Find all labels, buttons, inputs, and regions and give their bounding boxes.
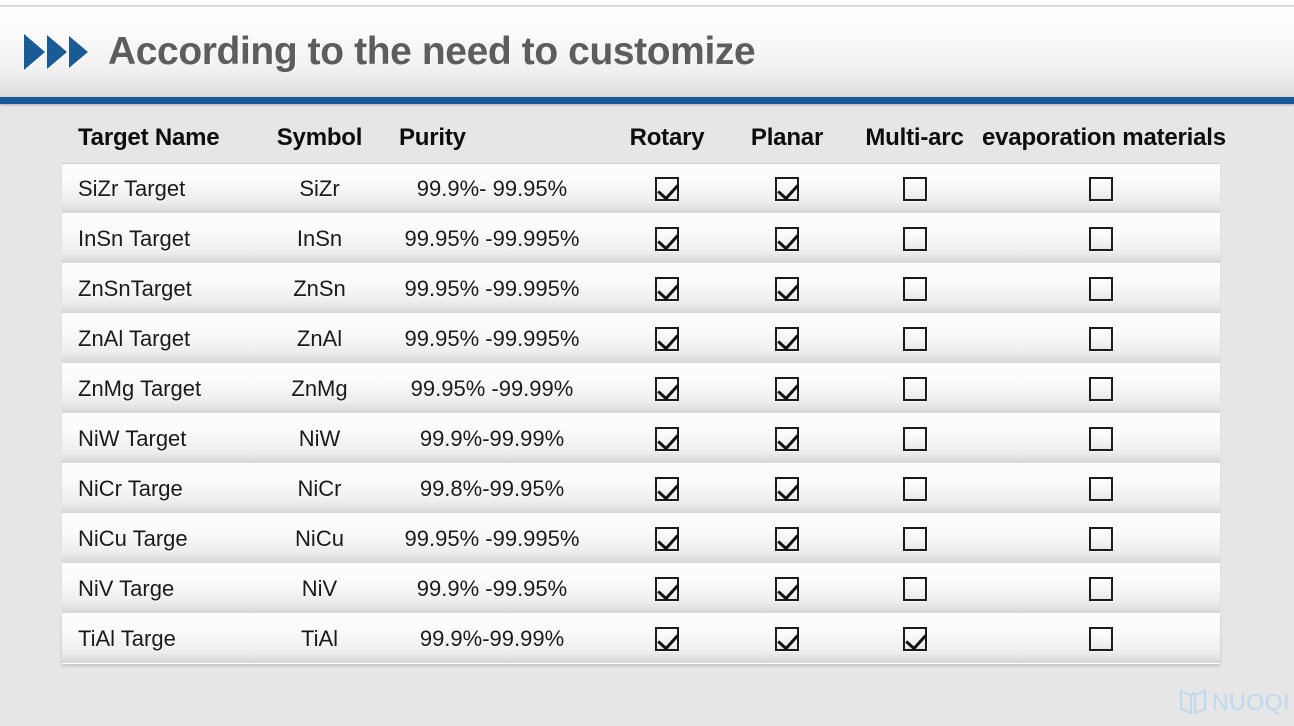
cell-purity: 99.9%- 99.95% bbox=[377, 164, 607, 213]
checkbox-evaporation-materials-cell bbox=[982, 314, 1220, 363]
checkbox-multi-arc-cell bbox=[847, 614, 982, 663]
checkbox-rotary-cell bbox=[607, 414, 727, 463]
checkbox-multi-arc-cell bbox=[847, 464, 982, 513]
checkbox-multi-arc[interactable] bbox=[903, 277, 927, 301]
cell-purity: 99.9% -99.95% bbox=[377, 564, 607, 613]
table-row[interactable]: ZnSnTargetZnSn99.95% -99.995% bbox=[62, 264, 1220, 314]
cell-purity-text: 99.95% -99.995% bbox=[405, 526, 580, 552]
cell-purity: 99.95% -99.995% bbox=[377, 514, 607, 563]
checkbox-planar[interactable] bbox=[775, 227, 799, 251]
checkbox-rotary-cell bbox=[607, 314, 727, 363]
cell-symbol: NiCu bbox=[262, 514, 377, 563]
table-row[interactable]: InSn TargetInSn99.95% -99.995% bbox=[62, 214, 1220, 264]
checkbox-multi-arc-cell bbox=[847, 164, 982, 213]
checkbox-evaporation-materials-cell bbox=[982, 564, 1220, 613]
checkbox-planar[interactable] bbox=[775, 577, 799, 601]
cell-purity: 99.9%-99.99% bbox=[377, 614, 607, 663]
checkbox-multi-arc[interactable] bbox=[903, 227, 927, 251]
cell-target-name: NiV Targe bbox=[62, 564, 262, 613]
cell-purity-text: 99.9%-99.99% bbox=[420, 626, 564, 652]
cell-symbol-text: TiAl bbox=[301, 626, 338, 652]
cell-purity-text: 99.8%-99.95% bbox=[420, 476, 564, 502]
cell-symbol-text: ZnAl bbox=[297, 326, 342, 352]
cell-purity-text: 99.95% -99.99% bbox=[411, 376, 574, 402]
checkbox-multi-arc[interactable] bbox=[903, 377, 927, 401]
checkbox-evaporation-materials-cell bbox=[982, 414, 1220, 463]
checkbox-rotary-cell bbox=[607, 364, 727, 413]
slide-canvas: According to the need to customize Targe… bbox=[0, 0, 1294, 726]
checkbox-rotary[interactable] bbox=[655, 327, 679, 351]
checkbox-evaporation-materials-cell bbox=[982, 164, 1220, 213]
chevron-right-icon bbox=[69, 36, 88, 68]
checkbox-evaporation-materials-cell bbox=[982, 464, 1220, 513]
cell-target-name-text: InSn Target bbox=[78, 226, 190, 252]
checkbox-planar[interactable] bbox=[775, 327, 799, 351]
checkbox-planar-cell bbox=[727, 164, 847, 213]
cell-symbol: TiAl bbox=[262, 614, 377, 663]
cell-purity: 99.9%-99.99% bbox=[377, 414, 607, 463]
cell-target-name-text: ZnAl Target bbox=[78, 326, 190, 352]
checkbox-multi-arc-cell bbox=[847, 264, 982, 313]
checkbox-planar-cell bbox=[727, 464, 847, 513]
cell-target-name: ZnMg Target bbox=[62, 364, 262, 413]
checkbox-evaporation-materials[interactable] bbox=[1089, 527, 1113, 551]
checkbox-planar[interactable] bbox=[775, 277, 799, 301]
cell-symbol: NiV bbox=[262, 564, 377, 613]
slide-top-edge bbox=[0, 0, 1294, 6]
table-row[interactable]: ZnAl TargetZnAl99.95% -99.995% bbox=[62, 314, 1220, 364]
checkbox-rotary[interactable] bbox=[655, 277, 679, 301]
cell-purity: 99.95% -99.99% bbox=[377, 364, 607, 413]
column-header-evaporation-materials: evaporation materials bbox=[982, 117, 1220, 159]
checkbox-evaporation-materials-cell bbox=[982, 614, 1220, 663]
chevron-right-icon bbox=[47, 35, 67, 69]
checkbox-planar[interactable] bbox=[775, 477, 799, 501]
checkbox-multi-arc[interactable] bbox=[903, 327, 927, 351]
cell-target-name: SiZr Target bbox=[62, 164, 262, 213]
cell-symbol: ZnSn bbox=[262, 264, 377, 313]
checkbox-planar-cell bbox=[727, 264, 847, 313]
checkbox-rotary-cell bbox=[607, 614, 727, 663]
cell-target-name-text: TiAl Targe bbox=[78, 626, 176, 652]
slide-header: According to the need to customize bbox=[0, 7, 1294, 97]
cell-symbol-text: ZnSn bbox=[293, 276, 346, 302]
chevron-right-icon bbox=[24, 34, 45, 70]
cell-target-name: TiAl Targe bbox=[62, 614, 262, 663]
brand-logo: NUOQI bbox=[1178, 688, 1290, 716]
checkbox-rotary[interactable] bbox=[655, 177, 679, 201]
cell-purity-text: 99.95% -99.995% bbox=[405, 226, 580, 252]
cell-purity: 99.8%-99.95% bbox=[377, 464, 607, 513]
checkbox-rotary-cell bbox=[607, 264, 727, 313]
checkbox-multi-arc-cell bbox=[847, 564, 982, 613]
cell-target-name-text: NiV Targe bbox=[78, 576, 174, 602]
cell-target-name-text: NiCu Targe bbox=[78, 526, 188, 552]
checkbox-evaporation-materials-cell bbox=[982, 364, 1220, 413]
checkbox-multi-arc-cell bbox=[847, 364, 982, 413]
checkbox-evaporation-materials[interactable] bbox=[1089, 327, 1113, 351]
checkbox-planar-cell bbox=[727, 414, 847, 463]
checkbox-multi-arc[interactable] bbox=[903, 177, 927, 201]
targets-table: Target Name Symbol Purity Rotary Planar … bbox=[62, 117, 1220, 664]
checkbox-evaporation-materials-cell bbox=[982, 214, 1220, 263]
checkbox-evaporation-materials[interactable] bbox=[1089, 177, 1113, 201]
checkbox-rotary[interactable] bbox=[655, 477, 679, 501]
checkbox-rotary-cell bbox=[607, 514, 727, 563]
checkbox-multi-arc-cell bbox=[847, 214, 982, 263]
column-header-purity: Purity bbox=[377, 117, 607, 159]
checkbox-planar[interactable] bbox=[775, 427, 799, 451]
checkbox-evaporation-materials[interactable] bbox=[1089, 477, 1113, 501]
checkbox-planar[interactable] bbox=[775, 527, 799, 551]
header-divider bbox=[0, 97, 1294, 104]
cell-symbol: SiZr bbox=[262, 164, 377, 213]
cell-symbol-text: NiCr bbox=[298, 476, 342, 502]
cell-purity: 99.95% -99.995% bbox=[377, 214, 607, 263]
table-row[interactable]: TiAl TargeTiAl99.9%-99.99% bbox=[62, 614, 1220, 664]
brand-name: NUOQI bbox=[1212, 689, 1290, 716]
cell-target-name-text: NiW Target bbox=[78, 426, 186, 452]
cell-symbol: InSn bbox=[262, 214, 377, 263]
checkbox-planar[interactable] bbox=[775, 377, 799, 401]
checkbox-rotary-cell bbox=[607, 214, 727, 263]
checkbox-planar-cell bbox=[727, 514, 847, 563]
checkbox-planar[interactable] bbox=[775, 177, 799, 201]
checkbox-evaporation-materials[interactable] bbox=[1089, 577, 1113, 601]
checkbox-rotary[interactable] bbox=[655, 427, 679, 451]
cell-target-name: ZnSnTarget bbox=[62, 264, 262, 313]
cell-target-name-text: NiCr Targe bbox=[78, 476, 183, 502]
checkbox-rotary-cell bbox=[607, 464, 727, 513]
checkbox-planar-cell bbox=[727, 314, 847, 363]
cell-target-name: NiW Target bbox=[62, 414, 262, 463]
cell-purity: 99.95% -99.995% bbox=[377, 314, 607, 363]
checkbox-evaporation-materials[interactable] bbox=[1089, 377, 1113, 401]
cell-symbol: NiW bbox=[262, 414, 377, 463]
cell-symbol-text: NiW bbox=[299, 426, 341, 452]
chevron-group-icon bbox=[24, 29, 90, 75]
cell-target-name-text: SiZr Target bbox=[78, 176, 185, 202]
table-row[interactable]: SiZr TargetSiZr99.9%- 99.95% bbox=[62, 164, 1220, 214]
cell-purity-text: 99.9%-99.99% bbox=[420, 426, 564, 452]
checkbox-evaporation-materials-cell bbox=[982, 514, 1220, 563]
cell-target-name-text: ZnSnTarget bbox=[78, 276, 192, 302]
checkbox-evaporation-materials[interactable] bbox=[1089, 227, 1113, 251]
cell-purity: 99.95% -99.995% bbox=[377, 264, 607, 313]
checkbox-evaporation-materials[interactable] bbox=[1089, 427, 1113, 451]
checkbox-rotary[interactable] bbox=[655, 377, 679, 401]
checkbox-planar[interactable] bbox=[775, 627, 799, 651]
cell-symbol-text: InSn bbox=[297, 226, 342, 252]
cell-symbol-text: NiCu bbox=[295, 526, 344, 552]
cell-symbol: ZnAl bbox=[262, 314, 377, 363]
checkbox-rotary[interactable] bbox=[655, 627, 679, 651]
checkbox-multi-arc[interactable] bbox=[903, 577, 927, 601]
checkbox-rotary[interactable] bbox=[655, 577, 679, 601]
cell-symbol-text: NiV bbox=[302, 576, 337, 602]
column-header-symbol: Symbol bbox=[262, 117, 377, 159]
checkbox-multi-arc-cell bbox=[847, 514, 982, 563]
cell-purity-text: 99.95% -99.995% bbox=[405, 276, 580, 302]
checkbox-planar-cell bbox=[727, 214, 847, 263]
table-row[interactable]: NiCu TargeNiCu99.95% -99.995% bbox=[62, 514, 1220, 564]
table-header-row: Target Name Symbol Purity Rotary Planar … bbox=[62, 117, 1220, 163]
checkbox-rotary-cell bbox=[607, 564, 727, 613]
table-body: SiZr TargetSiZr99.9%- 99.95%InSn TargetI… bbox=[62, 163, 1220, 664]
column-header-target-name: Target Name bbox=[62, 117, 262, 159]
cell-symbol-text: ZnMg bbox=[291, 376, 347, 402]
checkbox-multi-arc[interactable] bbox=[903, 627, 927, 651]
checkbox-rotary[interactable] bbox=[655, 227, 679, 251]
checkbox-evaporation-materials[interactable] bbox=[1089, 277, 1113, 301]
table-row[interactable]: NiCr TargeNiCr99.8%-99.95% bbox=[62, 464, 1220, 514]
cell-symbol-text: SiZr bbox=[299, 176, 339, 202]
checkbox-multi-arc[interactable] bbox=[903, 427, 927, 451]
checkbox-multi-arc-cell bbox=[847, 314, 982, 363]
column-header-planar: Planar bbox=[727, 117, 847, 159]
table-row[interactable]: ZnMg TargetZnMg99.95% -99.99% bbox=[62, 364, 1220, 414]
cell-target-name: NiCr Targe bbox=[62, 464, 262, 513]
checkbox-multi-arc-cell bbox=[847, 414, 982, 463]
open-book-icon bbox=[1178, 688, 1208, 716]
cell-purity-text: 99.95% -99.995% bbox=[405, 326, 580, 352]
cell-target-name: ZnAl Target bbox=[62, 314, 262, 363]
checkbox-multi-arc[interactable] bbox=[903, 527, 927, 551]
cell-target-name: InSn Target bbox=[62, 214, 262, 263]
checkbox-planar-cell bbox=[727, 614, 847, 663]
page-title: According to the need to customize bbox=[108, 30, 755, 74]
cell-symbol: ZnMg bbox=[262, 364, 377, 413]
cell-purity-text: 99.9% -99.95% bbox=[417, 576, 567, 602]
cell-target-name-text: ZnMg Target bbox=[78, 376, 201, 402]
checkbox-evaporation-materials[interactable] bbox=[1089, 627, 1113, 651]
checkbox-rotary[interactable] bbox=[655, 527, 679, 551]
column-header-multi-arc: Multi-arc bbox=[847, 117, 982, 159]
checkbox-evaporation-materials-cell bbox=[982, 264, 1220, 313]
cell-target-name: NiCu Targe bbox=[62, 514, 262, 563]
cell-purity-text: 99.9%- 99.95% bbox=[417, 176, 567, 202]
checkbox-planar-cell bbox=[727, 564, 847, 613]
checkbox-multi-arc[interactable] bbox=[903, 477, 927, 501]
checkbox-rotary-cell bbox=[607, 164, 727, 213]
table-row[interactable]: NiW TargetNiW99.9%-99.99% bbox=[62, 414, 1220, 464]
cell-symbol: NiCr bbox=[262, 464, 377, 513]
column-header-rotary: Rotary bbox=[607, 117, 727, 159]
checkbox-planar-cell bbox=[727, 364, 847, 413]
table-row[interactable]: NiV TargeNiV99.9% -99.95% bbox=[62, 564, 1220, 614]
